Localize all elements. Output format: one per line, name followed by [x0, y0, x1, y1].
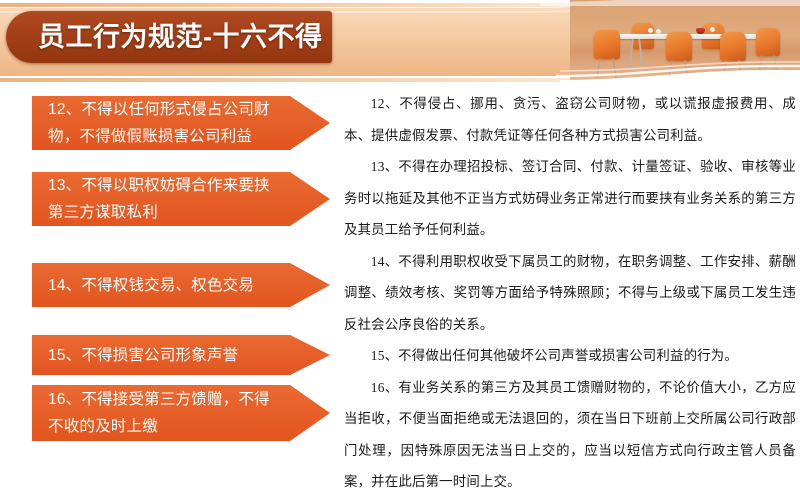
detail-paragraph-13: 13、不得在办理招投标、签订合同、付款、计量签证、验收、审核等业务时以拖延及其他… [344, 151, 796, 246]
key-point-label-12: 12、不得以任何形式侵占公司财物，不得做假账损害公司利益 [48, 96, 284, 150]
page-header: 员工行为规范-十六不得 [0, 0, 800, 83]
key-points-list: 12、不得以任何形式侵占公司财物，不得做假账损害公司利益 13、不得以职权妨碍合… [0, 83, 340, 500]
detail-paragraph-16: 16、有业务关系的第三方及其员工馈赠财物的，不论价值大小，乙方应当拒收，不便当面… [344, 372, 796, 498]
detail-text-column: 12、不得侵占、挪用、贪污、盗窃公司财物，或以谎报虚报费用、成本、提供虚假发票、… [344, 88, 796, 488]
key-point-arrow-14[interactable]: 14、不得权钱交易、权色交易 [32, 263, 330, 307]
detail-paragraph-12: 12、不得侵占、挪用、贪污、盗窃公司财物，或以谎报虚报费用、成本、提供虚假发票、… [344, 88, 796, 151]
key-point-label-13: 13、不得以职权妨碍合作来要挟第三方谋取私利 [48, 172, 284, 226]
key-point-label-14: 14、不得权钱交易、权色交易 [48, 272, 254, 299]
detail-paragraph-14: 14、不得利用职权收受下属员工的财物，在职务调整、工作安排、薪酬调整、绩效考核、… [344, 246, 796, 341]
detail-paragraph-15: 15、不得做出任何其他破坏公司声誉或损害公司利益的行为。 [344, 340, 796, 372]
key-point-arrow-12[interactable]: 12、不得以任何形式侵占公司财物，不得做假账损害公司利益 [32, 96, 330, 150]
page-title: 员工行为规范-十六不得 [38, 11, 338, 63]
key-point-arrow-16[interactable]: 16、不得接受第三方馈赠，不得不收的及时上缴 [32, 385, 330, 441]
key-point-label-16: 16、不得接受第三方馈赠，不得不收的及时上缴 [48, 386, 284, 440]
key-point-label-15: 15、不得损害公司形象声誉 [48, 342, 238, 369]
key-point-arrow-15[interactable]: 15、不得损害公司形象声誉 [32, 335, 330, 375]
key-point-arrow-13[interactable]: 13、不得以职权妨碍合作来要挟第三方谋取私利 [32, 172, 330, 226]
